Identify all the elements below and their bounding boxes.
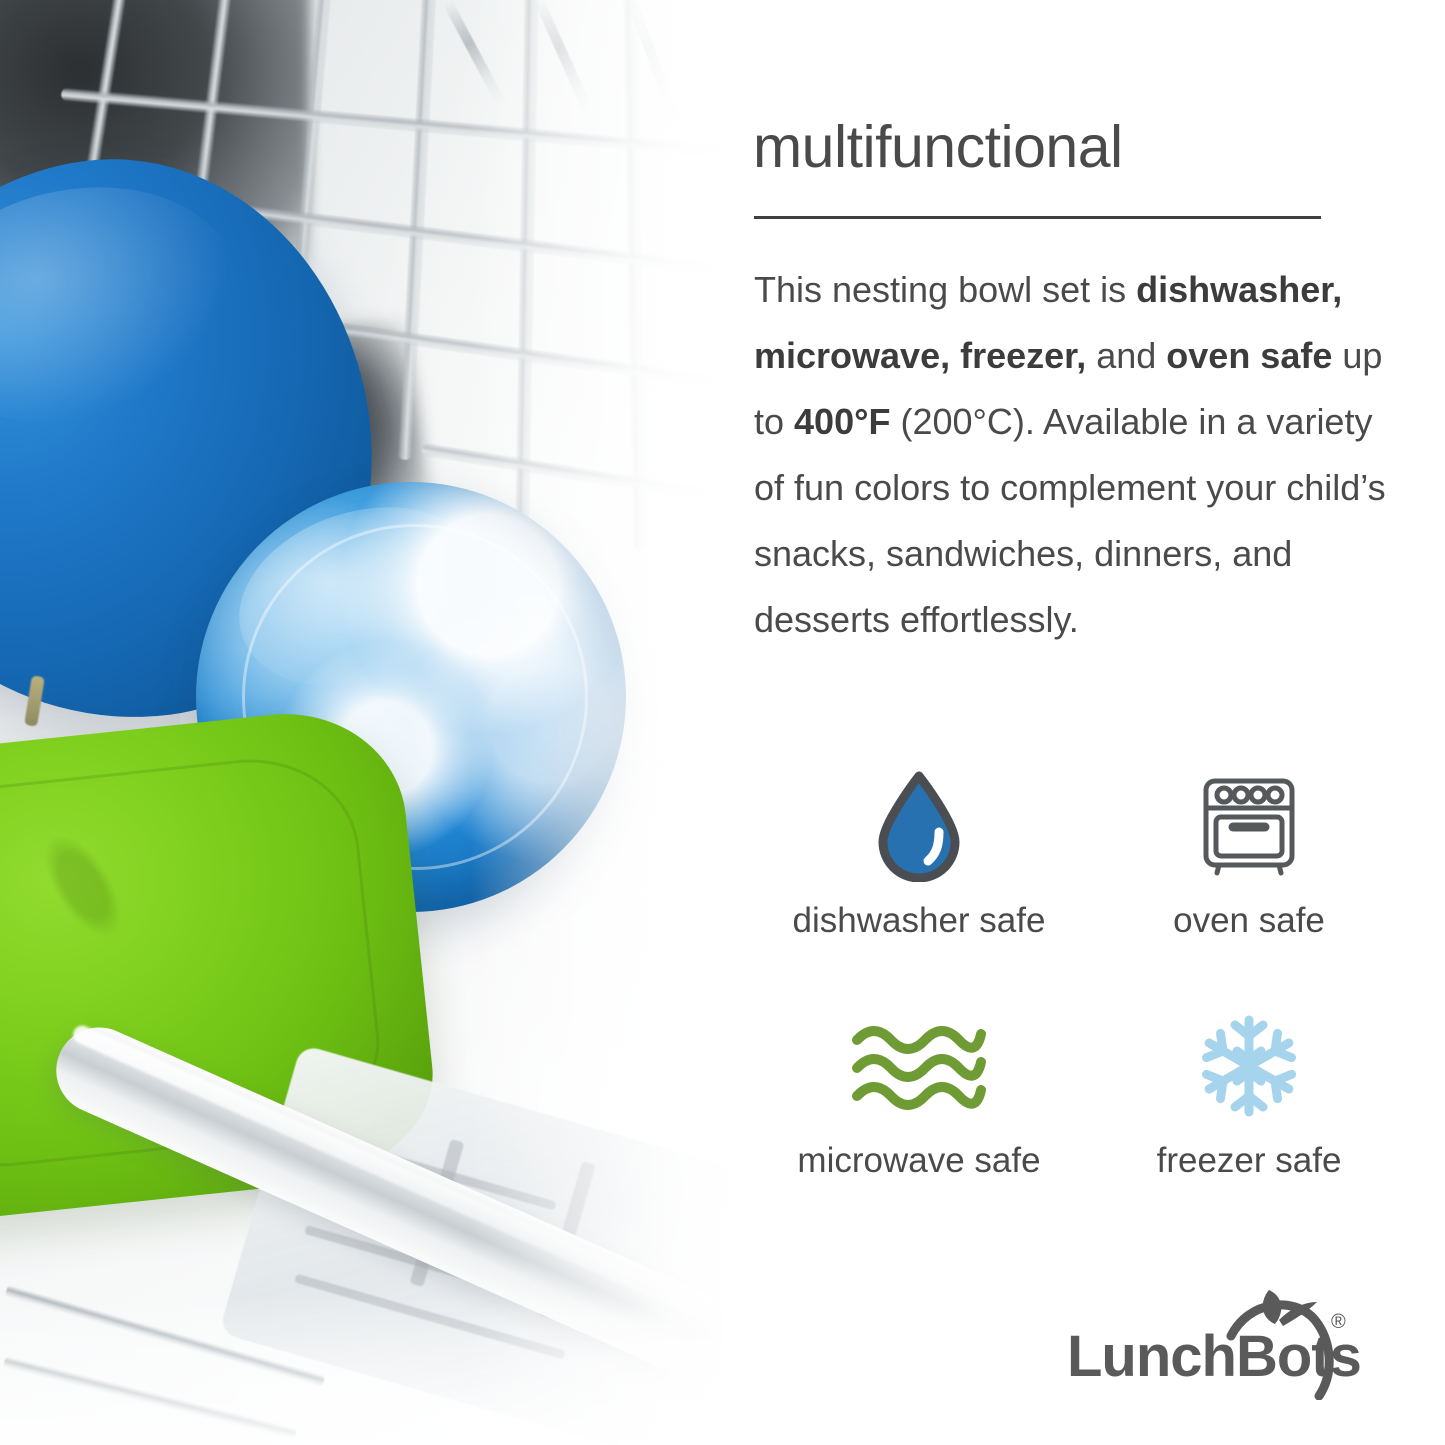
water-drop-icon [868, 770, 970, 882]
content-panel: multifunctional This nesting bowl set is… [753, 0, 1445, 1445]
registered-mark: ® [1331, 1311, 1346, 1333]
feature-dishwasher-safe: dishwasher safe [753, 770, 1085, 1010]
feature-microwave-safe: microwave safe [753, 1010, 1085, 1250]
feature-label: freezer safe [1157, 1142, 1342, 1181]
feature-freezer-safe: freezer safe [1085, 1010, 1413, 1250]
snowflake-icon [1195, 1010, 1303, 1122]
microwave-waves-icon [849, 1010, 989, 1122]
product-feature-card: multifunctional This nesting bowl set is… [0, 0, 1445, 1445]
title-divider [754, 216, 1321, 219]
oven-icon [1195, 770, 1303, 882]
brand-logo: LunchBots ® [1063, 1280, 1363, 1400]
logo-wordmark: LunchBots [1067, 1324, 1361, 1389]
feature-label: oven safe [1173, 902, 1325, 941]
feature-oven-safe: oven safe [1085, 770, 1413, 1010]
description-text: This nesting bowl set is dishwasher, mic… [754, 257, 1399, 653]
feature-icon-grid: dishwasher safe [753, 770, 1413, 1250]
product-photo [0, 0, 740, 1445]
page-title: multifunctional [753, 118, 1123, 177]
feature-label: dishwasher safe [793, 902, 1046, 941]
feature-label: microwave safe [797, 1142, 1040, 1181]
